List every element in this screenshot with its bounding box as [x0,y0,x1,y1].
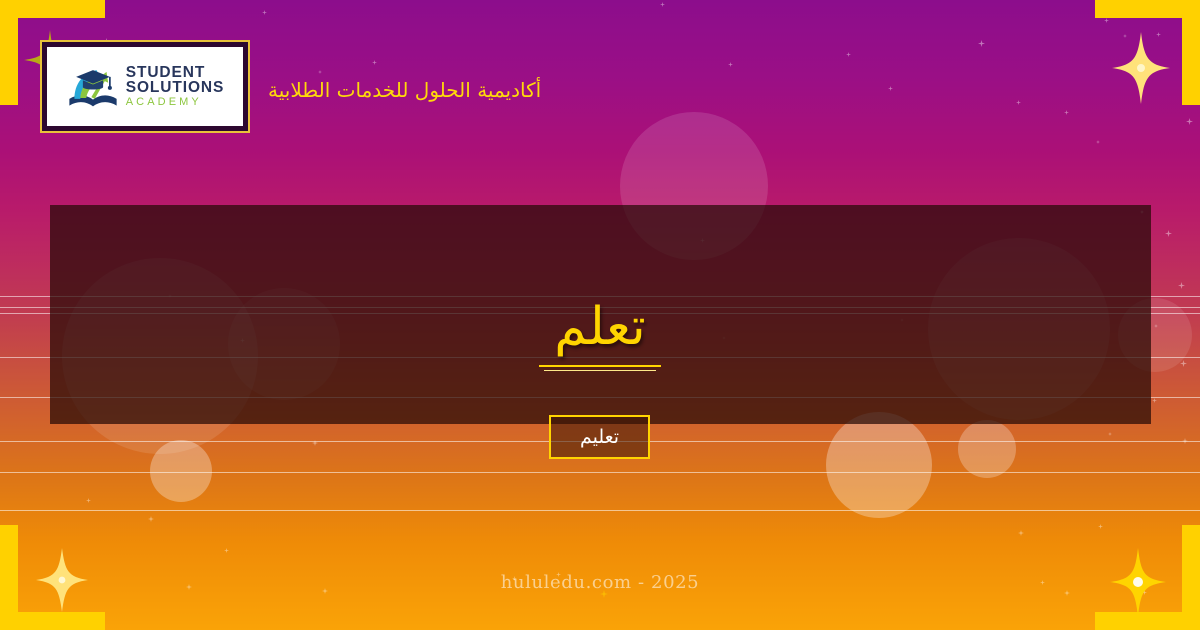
logo-frame: STUDENT SOLUTIONS ACADEMY [40,40,250,133]
brand-name-arabic: أكاديمية الحلول للخدمات الطلابية [268,78,541,102]
divider-line [0,510,1200,511]
title-block: تعلم [0,300,1200,371]
header: STUDENT SOLUTIONS ACADEMY أكاديمية الحلو… [40,40,541,133]
bubble [826,412,932,518]
bubble [150,440,212,502]
bubble [958,420,1016,478]
title-underline [0,365,1200,371]
category-badge[interactable]: تعليم [549,415,650,459]
footer-text: hululedu.com - 2025 [0,572,1200,593]
divider-line [0,472,1200,473]
category-badge-label: تعليم [580,426,619,448]
corner-frame-bottom-left [0,612,105,630]
logo: STUDENT SOLUTIONS ACADEMY [47,47,243,126]
logo-line-3: ACADEMY [126,97,225,108]
logo-line-1: STUDENT [126,65,225,81]
corner-frame-top-right [1182,0,1200,105]
corner-frame-top-left [0,0,105,18]
logo-wordmark: STUDENT SOLUTIONS ACADEMY [126,65,225,109]
title-underline-primary [539,365,661,367]
page-title: تعلم [0,300,1200,355]
poster-canvas: STUDENT SOLUTIONS ACADEMY أكاديمية الحلو… [0,0,1200,630]
graduation-cap-book-arrow-logo-icon [66,60,120,114]
logo-line-2: SOLUTIONS [126,80,225,96]
sparkle-star-icon [1112,32,1170,104]
title-underline-secondary [544,370,656,371]
